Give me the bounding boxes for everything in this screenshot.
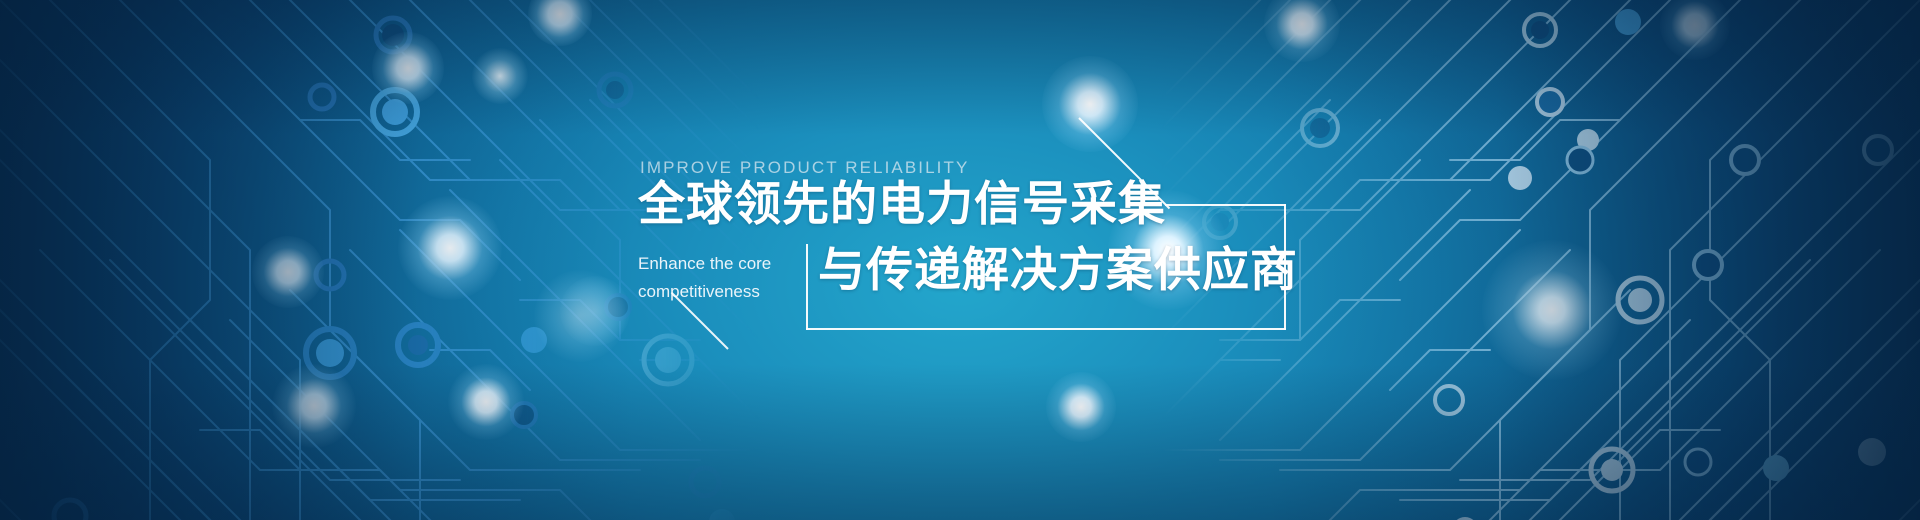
hero-subtitle-line-2: competitiveness — [638, 278, 803, 306]
decor-frame-right-edge — [1284, 204, 1286, 330]
hero-subtitle: Enhance the core competitiveness — [638, 250, 803, 305]
hero-banner: IMPROVE PRODUCT RELIABILITY 全球领先的电力信号采集 … — [0, 0, 1920, 520]
hero-headline-line-2: 与传递解决方案供应商 — [818, 246, 1298, 293]
hero-eyebrow: IMPROVE PRODUCT RELIABILITY — [640, 158, 969, 178]
decor-frame-top-edge — [1165, 204, 1286, 206]
decor-frame-bottom-edge — [806, 328, 1286, 330]
hero-headline-line-1: 全球领先的电力信号采集 — [638, 180, 1166, 227]
hero-copy-block: IMPROVE PRODUCT RELIABILITY 全球领先的电力信号采集 … — [0, 0, 1920, 520]
hero-subtitle-line-1: Enhance the core — [638, 250, 803, 278]
decor-frame-left-edge — [806, 244, 808, 330]
